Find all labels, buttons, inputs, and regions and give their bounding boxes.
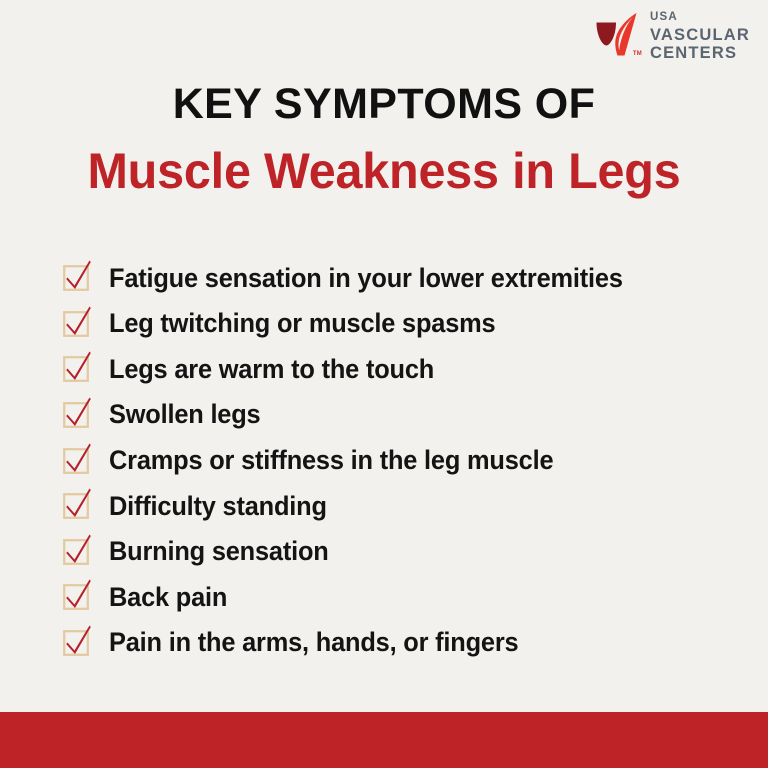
symptom-label: Legs are warm to the touch <box>109 355 434 383</box>
page-title: KEY SYMPTOMS OF Muscle Weakness in Legs <box>0 83 768 196</box>
symptom-label: Back pain <box>109 583 227 611</box>
symptom-item-5: Cramps or stiffness in the leg muscle <box>64 437 724 483</box>
symptom-label: Fatigue sensation in your lower extremit… <box>109 264 623 292</box>
symptom-item-4: Swollen legs <box>64 392 724 438</box>
wordmark-line-centers: CENTERS <box>650 45 750 62</box>
symptom-item-2: Leg twitching or muscle spasms <box>64 301 724 347</box>
wordmark-line-usa: USA <box>650 12 750 24</box>
footer-accent-bar <box>0 712 768 768</box>
symptom-label: Difficulty standing <box>109 492 327 520</box>
symptom-item-9: Pain in the arms, hands, or fingers <box>64 620 724 666</box>
symptom-item-6: Difficulty standing <box>64 483 724 529</box>
symptom-item-1: Fatigue sensation in your lower extremit… <box>64 255 724 301</box>
usa-vascular-centers-v-logo-icon: TM <box>595 11 641 58</box>
symptom-label: Cramps or stiffness in the leg muscle <box>109 446 553 474</box>
symptom-item-3: Legs are warm to the touch <box>64 346 724 392</box>
symptom-label: Burning sensation <box>109 537 329 565</box>
symptom-item-7: Burning sensation <box>64 529 724 575</box>
symptom-item-8: Back pain <box>64 574 724 620</box>
checked-checkbox-icon <box>64 448 89 473</box>
checked-checkbox-icon <box>64 402 89 427</box>
symptom-label: Pain in the arms, hands, or fingers <box>109 628 518 656</box>
checked-checkbox-icon <box>64 584 89 609</box>
checked-checkbox-icon <box>64 265 89 290</box>
checked-checkbox-icon <box>64 630 89 655</box>
checked-checkbox-icon <box>64 311 89 336</box>
checked-checkbox-icon <box>64 493 89 518</box>
title-primary: KEY SYMPTOMS OF <box>0 83 768 126</box>
brand-wordmark: USA VASCULAR CENTERS <box>650 11 750 62</box>
infographic-poster: TM USA VASCULAR CENTERS KEY SYMPTOMS OF … <box>0 0 768 768</box>
symptom-checklist: Fatigue sensation in your lower extremit… <box>64 255 724 665</box>
symptom-label: Leg twitching or muscle spasms <box>109 309 495 337</box>
wordmark-line-vascular: VASCULAR <box>650 27 750 44</box>
checked-checkbox-icon <box>64 539 89 564</box>
brand-logo: TM USA VASCULAR CENTERS <box>595 11 750 62</box>
checked-checkbox-icon <box>64 356 89 381</box>
symptom-label: Swollen legs <box>109 400 260 428</box>
trademark-symbol: TM <box>633 51 642 57</box>
title-secondary: Muscle Weakness in Legs <box>12 146 757 196</box>
